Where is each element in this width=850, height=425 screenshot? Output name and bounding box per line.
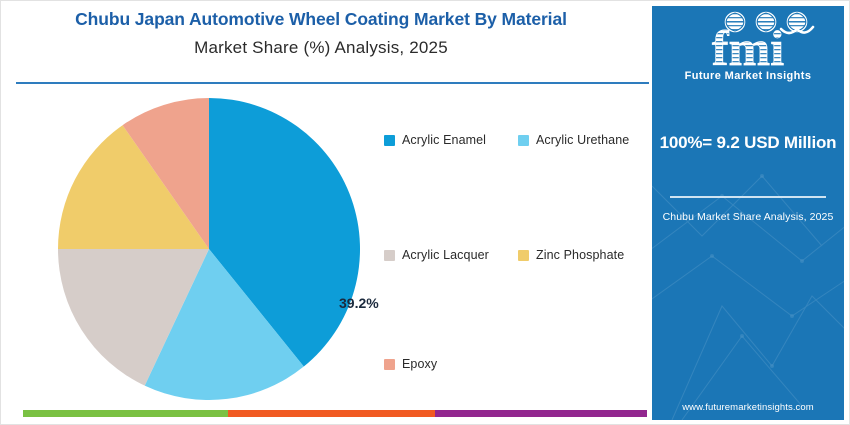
legend-label: Zinc Phosphate [536,248,624,262]
market-value-stat: 100%= 9.2 USD Million [658,130,838,156]
fmi-wordmark: fmi [712,20,784,76]
legend-swatch-icon [518,135,529,146]
pie-slice-group [58,98,360,400]
pie-chart: 39.2% [58,98,360,400]
fmi-tagline: Future Market Insights [685,70,812,82]
legend-label: Epoxy [402,357,437,371]
legend-row: Epoxy [384,357,652,371]
legend-label: Acrylic Lacquer [402,248,489,262]
website-url[interactable]: www.futuremarketinsights.com [652,402,844,413]
legend-item-zinc-phosphate[interactable]: Zinc Phosphate [518,248,652,262]
legend-swatch-icon [384,359,395,370]
legend-swatch-icon [518,250,529,261]
legend-label: Acrylic Enamel [402,133,486,147]
legend-item-epoxy[interactable]: Epoxy [384,357,519,371]
footer-color-bar [435,410,647,417]
legend-row: Acrylic Lacquer Zinc Phosphate [384,248,652,262]
legend-item-acrylic-enamel[interactable]: Acrylic Enamel [384,133,518,147]
legend-swatch-icon [384,250,395,261]
infographic-page: Chubu Japan Automotive Wheel Coating Mar… [0,0,850,425]
footer-color-bars [23,410,647,417]
footer-color-bar [23,410,228,417]
title-divider [16,82,649,84]
pie-chart-svg [58,98,360,400]
legend-item-acrylic-lacquer[interactable]: Acrylic Lacquer [384,248,518,262]
panel-divider [670,196,826,198]
chart-legend: Acrylic Enamel Acrylic Urethane Acrylic … [384,133,652,371]
market-value-text: 100%= 9.2 USD Million [658,130,838,156]
legend-label: Acrylic Urethane [536,133,629,147]
chart-main-area: Chubu Japan Automotive Wheel Coating Mar… [1,1,652,425]
pie-slice-label-acrylic-enamel: 39.2% [339,295,379,311]
title-line-primary: Chubu Japan Automotive Wheel Coating Mar… [1,5,641,33]
panel-caption: Chubu Market Share Analysis, 2025 [656,211,840,223]
legend-row: Acrylic Enamel Acrylic Urethane [384,133,652,147]
title-line-secondary: Market Share (%) Analysis, 2025 [1,33,641,63]
legend-swatch-icon [384,135,395,146]
footer-color-bar [228,410,435,417]
fmi-logo: fmi Future Market Insights [652,9,844,83]
fmi-logo-svg: fmi Future Market Insights [673,9,823,83]
legend-item-acrylic-urethane[interactable]: Acrylic Urethane [518,133,652,147]
page-title: Chubu Japan Automotive Wheel Coating Mar… [1,5,641,63]
brand-panel: fmi Future Market Insights 100%= 9.2 USD… [652,6,844,420]
